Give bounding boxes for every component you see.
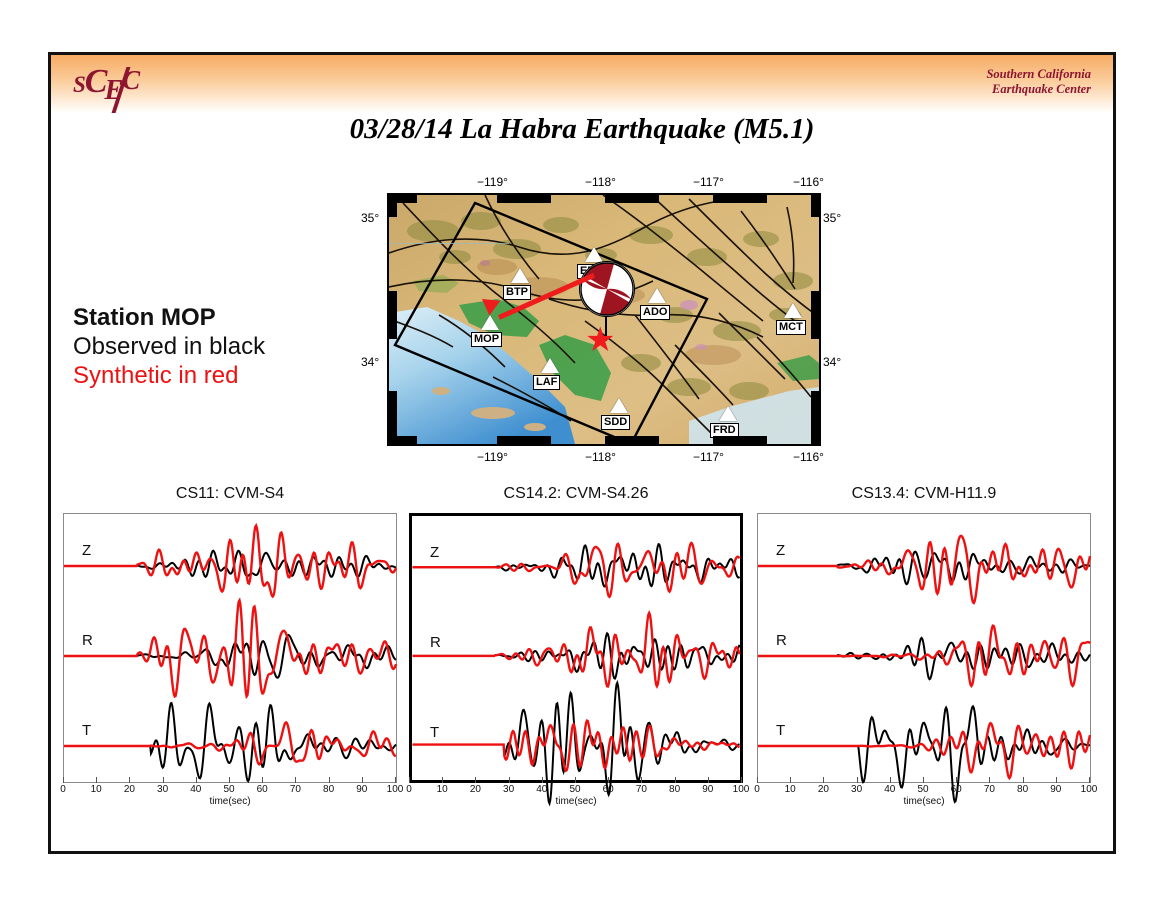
org-line-2: Earthquake Center: [986, 82, 1091, 97]
x-axis-tick-label: 10: [437, 784, 448, 795]
waveform-traces-cs134: [758, 514, 1090, 782]
x-axis-tick-label: 90: [356, 784, 367, 795]
x-axis-tick: [129, 777, 130, 783]
x-axis-tick: [362, 777, 363, 783]
x-axis-tick-label: 90: [702, 784, 713, 795]
x-axis-tick: [329, 777, 330, 783]
component-label-t: T: [82, 722, 91, 739]
component-label-r: R: [430, 634, 441, 651]
frame-tick: [389, 391, 397, 444]
synthetic-trace-z: [412, 543, 739, 597]
map-lat-label-right: 35°: [823, 211, 841, 225]
map-lon-label-bottom: −118°: [585, 450, 616, 464]
x-axis-tick: [442, 777, 443, 783]
frame-tick: [389, 195, 397, 217]
legend-station: Station MOP: [73, 303, 265, 332]
station-label: ADO: [640, 305, 670, 320]
x-axis-label: time(sec): [63, 796, 397, 807]
map-lat-label-left: 34°: [361, 355, 379, 369]
x-axis-tick-label: 100: [733, 784, 750, 795]
x-axis-tick: [923, 777, 924, 783]
x-axis-tick: [542, 777, 543, 783]
map-lon-label-top: −116°: [793, 175, 824, 189]
x-axis-tick: [1056, 777, 1057, 783]
observed-trace-t: [64, 703, 396, 781]
graticule-line: [389, 243, 509, 244]
legend-synthetic: Synthetic in red: [73, 361, 265, 390]
synthetic-trace-r: [412, 613, 739, 687]
slide-header-band: SCEC Southern California Earthquake Cent…: [51, 55, 1113, 113]
x-axis-tick-label: 80: [1017, 784, 1028, 795]
x-axis-tick: [509, 777, 510, 783]
x-axis-tick: [790, 777, 791, 783]
x-axis-tick: [641, 777, 642, 783]
frame-tick: [389, 291, 397, 339]
x-axis-tick: [196, 777, 197, 783]
station-label: SDD: [601, 415, 630, 430]
x-axis-tick-label: 10: [91, 784, 102, 795]
seismogram-panel-cs11[interactable]: Z R T time(sec) 0102030405060708090100: [63, 513, 397, 813]
station-triangle-icon: [719, 406, 737, 421]
map-lon-label-bottom: −116°: [793, 450, 824, 464]
component-label-r: R: [776, 632, 787, 649]
org-line-1: Southern California: [986, 67, 1091, 82]
synthetic-trace-z: [758, 536, 1090, 603]
x-axis-tick-label: 70: [636, 784, 647, 795]
panel-title-cs134: CS13.4: CVM-H11.9: [757, 485, 1091, 503]
station-triangle-icon: [541, 358, 559, 373]
scec-logo: SCEC: [73, 63, 141, 101]
x-axis-tick: [262, 777, 263, 783]
x-axis-tick-label: 70: [290, 784, 301, 795]
x-axis-tick: [229, 777, 230, 783]
station-triangle-icon: [648, 288, 666, 303]
x-axis-tick-label: 20: [124, 784, 135, 795]
waveform-traces-cs11: [64, 514, 396, 782]
x-axis-tick: [708, 777, 709, 783]
x-axis-tick-label: 30: [851, 784, 862, 795]
component-label-r: R: [82, 632, 93, 649]
x-axis-tick-label: 40: [190, 784, 201, 795]
frame-tick: [811, 195, 819, 217]
map-lon-label-top: −117°: [693, 175, 724, 189]
panel-title-cs11: CS11: CVM-S4: [63, 485, 397, 503]
panel-plot-area-highlighted: Z R T: [409, 513, 743, 783]
panel-x-axis: time(sec) 0102030405060708090100: [409, 783, 743, 813]
x-axis-tick-label: 0: [754, 784, 760, 795]
frame-tick: [497, 195, 551, 203]
map-lat-label-right: 34°: [823, 355, 841, 369]
x-axis-tick: [409, 777, 410, 783]
map-lon-label-top: −118°: [585, 175, 616, 189]
station-triangle-icon: [610, 398, 628, 413]
station-triangle-icon: [585, 247, 603, 262]
seismogram-panels: CS11: CVM-S4 CS14.2: CVM-S4.26 CS13.4: C…: [51, 485, 1113, 854]
x-axis-tick-label: 60: [603, 784, 614, 795]
x-axis-tick: [675, 777, 676, 783]
x-axis-tick-label: 80: [323, 784, 334, 795]
component-label-z: Z: [776, 542, 785, 559]
x-axis-tick-label: 40: [884, 784, 895, 795]
slide: SCEC Southern California Earthquake Cent…: [48, 52, 1116, 854]
frame-tick: [497, 436, 551, 444]
x-axis-tick-label: 30: [157, 784, 168, 795]
x-axis-tick: [989, 777, 990, 783]
x-axis-tick-label: 20: [818, 784, 829, 795]
seismogram-panel-cs134[interactable]: Z R T time(sec) 0102030405060708090100: [757, 513, 1091, 813]
panel-plot-area: Z R T: [63, 513, 397, 783]
x-axis-tick-label: 100: [1081, 784, 1098, 795]
observed-trace-r: [758, 638, 1090, 679]
x-axis-tick: [956, 777, 957, 783]
x-axis-tick-label: 60: [951, 784, 962, 795]
component-label-t: T: [430, 724, 439, 741]
x-axis-tick: [890, 777, 891, 783]
beachball-svg: [580, 262, 634, 316]
x-axis-tick: [63, 777, 64, 783]
frame-tick: [605, 195, 659, 203]
x-axis-tick: [1089, 777, 1090, 783]
x-axis-tick-label: 50: [917, 784, 928, 795]
x-axis-tick-label: 40: [536, 784, 547, 795]
epicenter-star-icon: ★: [585, 323, 615, 357]
x-axis-tick: [475, 777, 476, 783]
terrain-image: [389, 195, 819, 444]
synthetic-trace-t: [758, 723, 1090, 778]
x-axis-tick-label: 70: [984, 784, 995, 795]
x-axis-tick-label: 60: [257, 784, 268, 795]
station-label: MOP: [471, 332, 502, 347]
panel-plot-area: Z R T: [757, 513, 1091, 783]
x-axis-label: time(sec): [757, 796, 1091, 807]
legend-block: Station MOP Observed in black Synthetic …: [73, 303, 265, 390]
page-title: 03/28/14 La Habra Earthquake (M5.1): [51, 113, 1113, 146]
station-triangle-icon: [511, 268, 529, 283]
map-lon-label-bottom: −117°: [693, 450, 724, 464]
frame-tick: [811, 291, 819, 339]
x-axis-tick-label: 90: [1050, 784, 1061, 795]
component-label-t: T: [776, 722, 785, 739]
legend-observed: Observed in black: [73, 332, 265, 361]
x-axis-tick: [857, 777, 858, 783]
x-axis-tick-label: 80: [669, 784, 680, 795]
x-axis-tick: [295, 777, 296, 783]
panel-x-axis: time(sec) 0102030405060708090100: [63, 783, 397, 813]
x-axis-tick-label: 0: [60, 784, 66, 795]
x-axis-tick: [757, 777, 758, 783]
component-label-z: Z: [82, 542, 91, 559]
station-label: BTP: [503, 285, 531, 300]
panel-x-axis: time(sec) 0102030405060708090100: [757, 783, 1091, 813]
x-axis-tick: [96, 777, 97, 783]
x-axis-tick: [163, 777, 164, 783]
frame-tick: [713, 195, 767, 203]
focal-mechanism-beachball-icon: [579, 261, 635, 317]
station-label: MCT: [776, 320, 806, 335]
station-triangle-icon: [481, 315, 499, 330]
x-axis-tick-label: 100: [387, 784, 404, 795]
x-axis-label: time(sec): [409, 796, 743, 807]
x-axis-tick-label: 0: [406, 784, 412, 795]
x-axis-tick: [741, 777, 742, 783]
station-label: LAF: [533, 375, 560, 390]
seismogram-panel-cs142[interactable]: Z R T time(sec) 0102030405060708090100: [409, 513, 743, 813]
map-lon-label-top: −119°: [477, 175, 508, 189]
x-axis-tick-label: 10: [785, 784, 796, 795]
x-axis-tick: [608, 777, 609, 783]
synthetic-trace-r: [758, 626, 1090, 686]
map-terrain: EDW2 BTP ADO MCT MOP LAF: [389, 195, 819, 444]
frame-tick: [605, 436, 659, 444]
x-axis-tick: [823, 777, 824, 783]
location-map: EDW2 BTP ADO MCT MOP LAF: [361, 173, 851, 488]
waveform-traces-cs142: [412, 516, 740, 780]
x-axis-tick-label: 50: [569, 784, 580, 795]
map-lat-label-left: 35°: [361, 211, 379, 225]
map-lon-label-bottom: −119°: [477, 450, 508, 464]
panel-title-cs142: CS14.2: CVM-S4.26: [409, 485, 743, 503]
x-axis-tick: [575, 777, 576, 783]
frame-tick: [811, 391, 819, 444]
synthetic-trace-z: [64, 526, 396, 597]
organization-name: Southern California Earthquake Center: [986, 67, 1091, 97]
x-axis-tick-label: 20: [470, 784, 481, 795]
x-axis-tick: [395, 777, 396, 783]
frame-tick: [713, 436, 767, 444]
synthetic-trace-t: [412, 721, 739, 771]
x-axis-tick-label: 50: [223, 784, 234, 795]
x-axis-tick: [1023, 777, 1024, 783]
x-axis-tick-label: 30: [503, 784, 514, 795]
component-label-z: Z: [430, 544, 439, 561]
station-triangle-icon: [784, 303, 802, 318]
